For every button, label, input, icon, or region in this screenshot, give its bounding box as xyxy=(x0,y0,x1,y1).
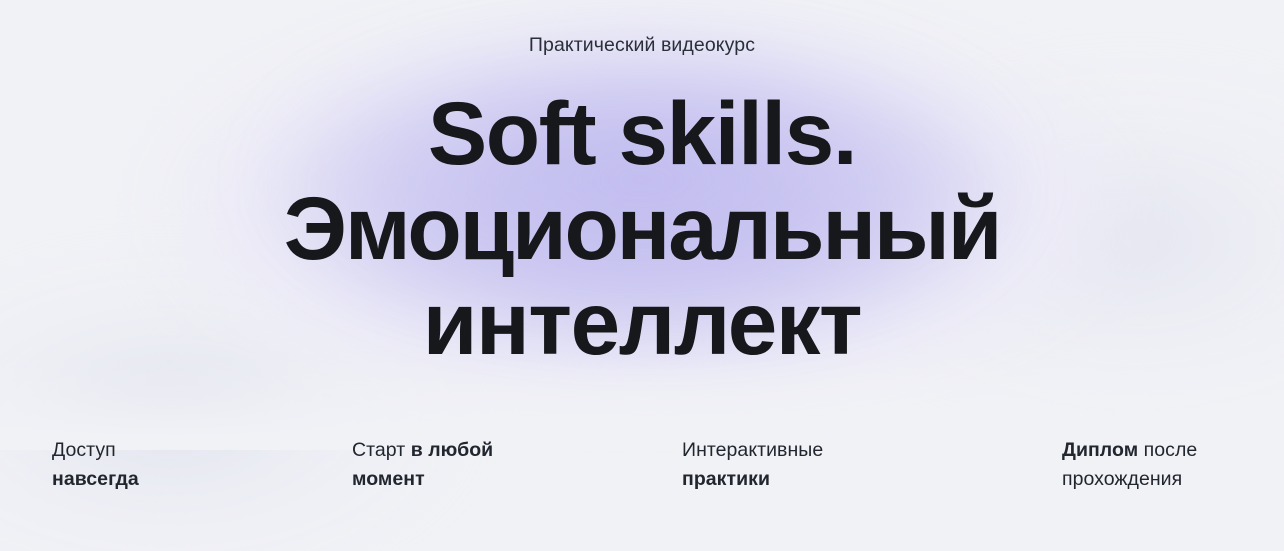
feature-diploma-l1-regular: после xyxy=(1138,439,1197,461)
hero-eyebrow: Практический видеокурс xyxy=(0,33,1284,57)
feature-item-access-line-1: Доступ xyxy=(52,436,139,465)
feature-access-l1-regular: Доступ xyxy=(52,439,116,461)
hero-section: Практический видеокурс Soft skills. Эмоц… xyxy=(0,0,1284,551)
feature-diploma-l2-regular: прохождения xyxy=(1062,468,1182,490)
feature-start-l1-bold: в любой xyxy=(411,439,493,461)
hero-content: Практический видеокурс Soft skills. Эмоц… xyxy=(0,0,1284,551)
feature-item-diploma-line-2: прохождения xyxy=(1062,465,1197,494)
feature-item-diploma: Диплом после прохождения xyxy=(1062,436,1197,494)
page-title-line-3: интеллект xyxy=(0,276,1284,371)
feature-item-start-line-1: Старт в любой xyxy=(352,436,493,465)
feature-access-l2-bold: навсегда xyxy=(52,468,139,490)
feature-item-practice-line-1: Интерактивные xyxy=(682,436,823,465)
feature-item-access: Доступ навсегда xyxy=(52,436,139,494)
feature-list: Доступ навсегда Старт в любой момент Инт… xyxy=(0,436,1284,500)
feature-item-start-line-2: момент xyxy=(352,465,493,494)
feature-item-diploma-line-1: Диплом после xyxy=(1062,436,1197,465)
feature-diploma-l1-bold: Диплом xyxy=(1062,439,1138,461)
page-title-line-1: Soft skills. xyxy=(0,86,1284,181)
feature-item-practice-line-2: практики xyxy=(682,465,823,494)
feature-item-access-line-2: навсегда xyxy=(52,465,139,494)
feature-start-l2-bold: момент xyxy=(352,468,425,490)
feature-item-practice: Интерактивные практики xyxy=(682,436,823,494)
feature-item-start: Старт в любой момент xyxy=(352,436,493,494)
page-title: Soft skills. Эмоциональный интеллект xyxy=(0,86,1284,371)
feature-start-l1-regular: Старт xyxy=(352,439,411,461)
feature-practice-l2-bold: практики xyxy=(682,468,770,490)
feature-practice-l1-regular: Интерактивные xyxy=(682,439,823,461)
page-title-line-2: Эмоциональный xyxy=(0,181,1284,276)
